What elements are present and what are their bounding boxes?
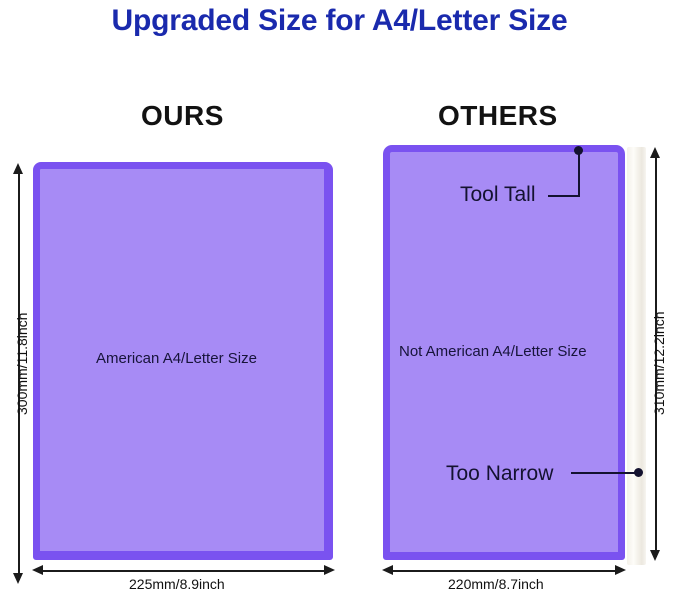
callout-too-narrow-label: Too Narrow (446, 462, 553, 486)
dimension-arrow-up-ours-icon (13, 163, 23, 174)
callout-too-narrow-dot-icon (634, 468, 643, 477)
column-heading-ours: OURS (141, 100, 224, 132)
folder-label-others: Not American A4/Letter Size (399, 343, 587, 360)
dimension-label-width-ours: 225mm/8.9inch (129, 576, 225, 592)
page-title: Upgraded Size for A4/Letter Size (0, 4, 679, 38)
callout-too-narrow-leader-horizontal (571, 472, 637, 474)
dimension-line-width-ours (40, 570, 327, 572)
callout-too-tall-leader-vertical (578, 152, 580, 197)
comparison-infographic: Upgraded Size for A4/Letter Size OURS Am… (0, 0, 679, 598)
dimension-arrow-up-others-icon (650, 147, 660, 158)
dimension-arrow-down-ours-icon (13, 573, 23, 584)
dimension-line-width-others (390, 570, 618, 572)
dimension-label-height-others: 310mm/12.2inch (651, 311, 667, 415)
column-heading-others: OTHERS (438, 100, 558, 132)
dimension-arrow-right-others-icon (615, 565, 626, 575)
folder-others-spine-strip (627, 147, 646, 565)
dimension-label-height-ours: 300mm/11.8inch (14, 313, 30, 415)
folder-label-ours: American A4/Letter Size (96, 350, 257, 367)
dimension-arrow-left-others-icon (382, 565, 393, 575)
callout-too-tall-label: Tool Tall (460, 183, 536, 207)
callout-too-tall-leader-horizontal (548, 195, 580, 197)
callout-too-tall-dot-icon (574, 146, 583, 155)
dimension-arrow-left-ours-icon (32, 565, 43, 575)
dimension-label-width-others: 220mm/8.7inch (448, 576, 544, 592)
dimension-arrow-right-ours-icon (324, 565, 335, 575)
folder-ours: American A4/Letter Size (33, 162, 333, 560)
dimension-arrow-down-others-icon (650, 550, 660, 561)
